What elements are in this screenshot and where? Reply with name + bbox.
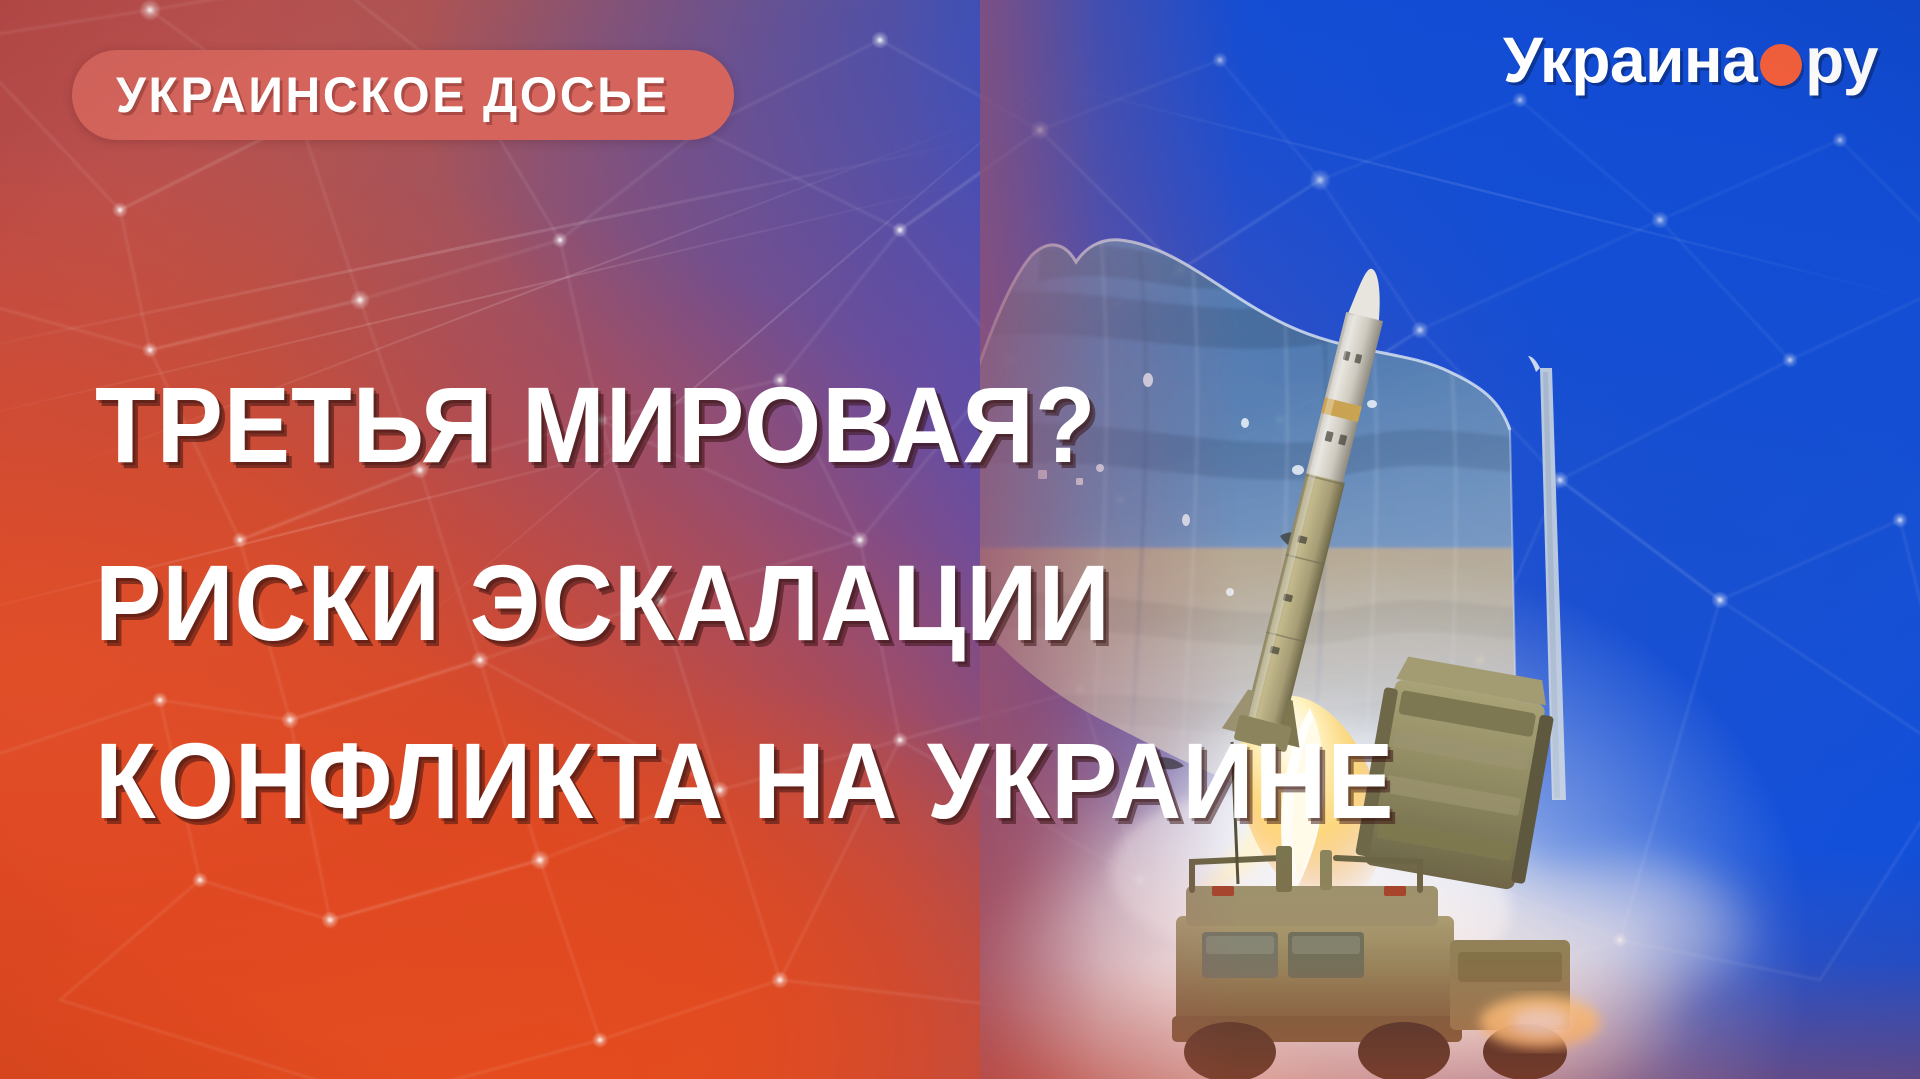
headline-line-3: КОНФЛИКТА НА УКРАИНЕ bbox=[95, 692, 1015, 870]
logo-word-ru: ру bbox=[1805, 28, 1878, 92]
category-badge-label: УКРАИНСКОЕ ДОСЬЕ bbox=[116, 66, 669, 124]
photo-composite bbox=[980, 0, 1920, 1079]
site-logo[interactable]: Украина ру bbox=[1503, 28, 1878, 92]
photo-bottom-fade bbox=[980, 849, 1920, 1079]
category-badge[interactable]: УКРАИНСКОЕ ДОСЬЕ bbox=[72, 50, 734, 140]
headline-line-1: ТРЕТЬЯ МИРОВАЯ? bbox=[95, 336, 1015, 514]
orange-dot-icon bbox=[1760, 44, 1802, 86]
logo-word-ukraina: Украина bbox=[1503, 28, 1757, 92]
missile bbox=[1220, 261, 1416, 756]
poster-canvas: УКРАИНСКОЕ ДОСЬЕ Украина ру ТРЕТЬЯ МИРОВ… bbox=[0, 0, 1920, 1079]
headline-block: ТРЕТЬЯ МИРОВАЯ? РИСКИ ЭСКАЛАЦИИ КОНФЛИКТ… bbox=[95, 336, 1095, 870]
headline-line-2: РИСКИ ЭСКАЛАЦИИ bbox=[95, 514, 1015, 692]
